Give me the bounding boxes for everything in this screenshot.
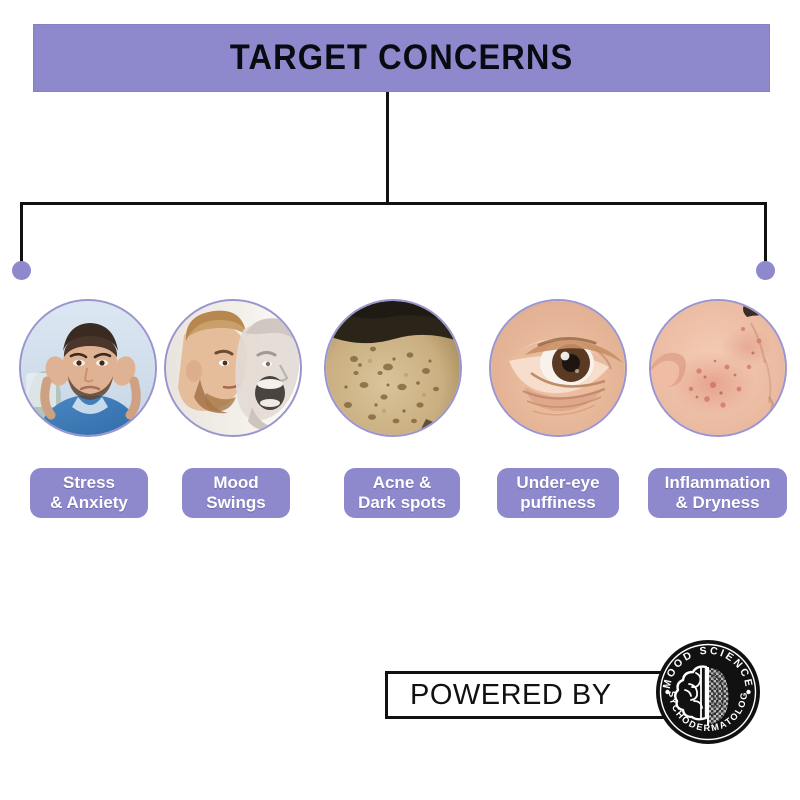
concern-circle-under-eye-puffiness[interactable] bbox=[489, 299, 627, 437]
logo-dot-right bbox=[746, 690, 750, 694]
infographic-canvas: TARGET CONCERNS bbox=[0, 0, 800, 800]
connector-node-dot-right bbox=[756, 261, 775, 280]
concern-label-inflammation-dryness[interactable]: Inflammation & Dryness bbox=[648, 468, 787, 518]
concern-circle-mood-swings[interactable] bbox=[164, 299, 302, 437]
connector-node-dot-left bbox=[12, 261, 31, 280]
page-title-bar: TARGET CONCERNS bbox=[33, 24, 770, 92]
page-title: TARGET CONCERNS bbox=[230, 38, 573, 78]
concern-label-text: Mood Swings bbox=[206, 473, 266, 513]
concern-label-text: Inflammation & Dryness bbox=[665, 473, 771, 513]
connector-horizontal-bar bbox=[20, 202, 767, 205]
concern-label-stress[interactable]: Stress & Anxiety bbox=[30, 468, 148, 518]
concern-label-acne-dark-spots[interactable]: Acne & Dark spots bbox=[344, 468, 460, 518]
acne-dark-spots-photo bbox=[326, 301, 460, 435]
powered-by-box: POWERED BY bbox=[385, 671, 670, 719]
concern-circle-acne-dark-spots[interactable] bbox=[324, 299, 462, 437]
mood-swings-photo bbox=[166, 301, 300, 435]
brand-logo[interactable]: MOOD SCIENCE PSYCHODERMATOLOGY bbox=[656, 640, 760, 744]
concern-label-under-eye-puffiness[interactable]: Under-eye puffiness bbox=[497, 468, 619, 518]
under-eye-puffiness-photo bbox=[491, 301, 625, 435]
concern-label-text: Under-eye puffiness bbox=[516, 473, 599, 513]
concern-labels-row: Stress & Anxiety Mood Swings Acne & Dark… bbox=[0, 468, 800, 522]
logo-dot-left bbox=[665, 690, 669, 694]
concern-label-mood-swings[interactable]: Mood Swings bbox=[182, 468, 290, 518]
connector-left-drop bbox=[20, 202, 23, 270]
inflammation-dryness-photo bbox=[651, 301, 785, 435]
concern-label-text: Acne & Dark spots bbox=[358, 473, 446, 513]
concern-circles-row bbox=[0, 299, 800, 441]
stress-photo bbox=[21, 301, 155, 435]
connector-right-drop bbox=[764, 202, 767, 270]
powered-by-label: POWERED BY bbox=[410, 679, 612, 712]
concern-circle-stress[interactable] bbox=[19, 299, 157, 437]
connector-vertical-stem bbox=[386, 92, 389, 204]
concern-label-text: Stress & Anxiety bbox=[50, 473, 128, 513]
concern-circle-inflammation-dryness[interactable] bbox=[649, 299, 787, 437]
